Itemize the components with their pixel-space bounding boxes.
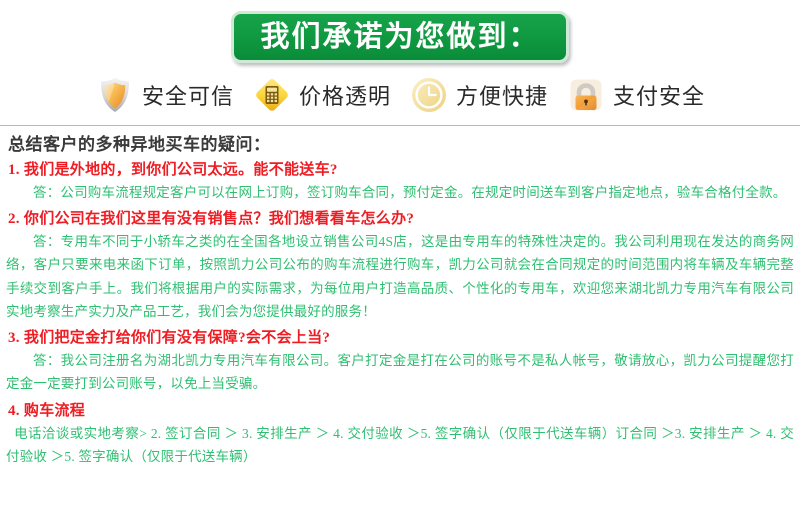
faq-question-1: 1. 我们是外地的，到你们公司太远。能不能送车? [8,158,794,179]
feature-label-safe: 安全可信 [142,79,234,111]
banner-row: 我们承诺为您做到： [0,0,800,66]
promise-banner: 我们承诺为您做到： [231,11,568,63]
page-title: 总结客户的多种异地买车的疑问： [8,130,794,155]
faq-item-3: 3. 我们把定金打给你们有没有保障?会不会上当? 答：我公司注册名为湖北凯力专用… [6,326,794,395]
feature-label-price: 价格透明 [299,79,391,111]
clock-icon [409,75,449,115]
feature-strip: 安全可信 [0,66,800,124]
faq-content: 总结客户的多种异地买车的疑问： 1. 我们是外地的，到你们公司太远。能不能送车?… [0,130,800,468]
faq-item-2: 2. 你们公司在我们这里有没有销售点？我们想看看车怎么办? 答：专用车不同于小轿… [6,207,794,323]
faq-item-1: 1. 我们是外地的，到你们公司太远。能不能送车? 答：公司购车流程规定客户可以在… [6,158,794,204]
faq-question-3: 3. 我们把定金打给你们有没有保障?会不会上当? [8,326,794,347]
shield-icon [95,75,135,115]
feature-item-payment: 支付安全 [566,75,705,115]
header-divider [0,125,800,126]
faq-answer-1: 答：公司购车流程规定客户可以在网上订购，签订购车合同，预付定金。在规定时间送车到… [6,181,794,204]
feature-item-convenient: 方便快捷 [409,75,548,115]
lock-icon [566,75,606,115]
faq-answer-2: 答：专用车不同于小轿车之类的在全国各地设立销售公司4S店，这是由专用车的特殊性决… [6,230,794,323]
calculator-icon [252,75,292,115]
faq-question-2: 2. 你们公司在我们这里有没有销售点？我们想看看车怎么办? [8,207,794,228]
feature-item-safe: 安全可信 [95,75,234,115]
feature-label-convenient: 方便快捷 [456,79,548,111]
feature-label-payment: 支付安全 [613,79,705,111]
purchase-flow-section: 4. 购车流程 电话洽谈或实地考察> 2. 签订合同 ＞ 3. 安排生产 ＞ 4… [6,399,794,468]
feature-item-price: 价格透明 [252,75,391,115]
faq-answer-3: 答：我公司注册名为湖北凯力专用汽车有限公司。客户打定金是打在公司的账号不是私人帐… [6,349,794,395]
purchase-flow-heading: 4. 购车流程 [8,399,794,420]
purchase-flow-text: 电话洽谈或实地考察> 2. 签订合同 ＞ 3. 安排生产 ＞ 4. 交付验收 ＞… [6,422,794,468]
